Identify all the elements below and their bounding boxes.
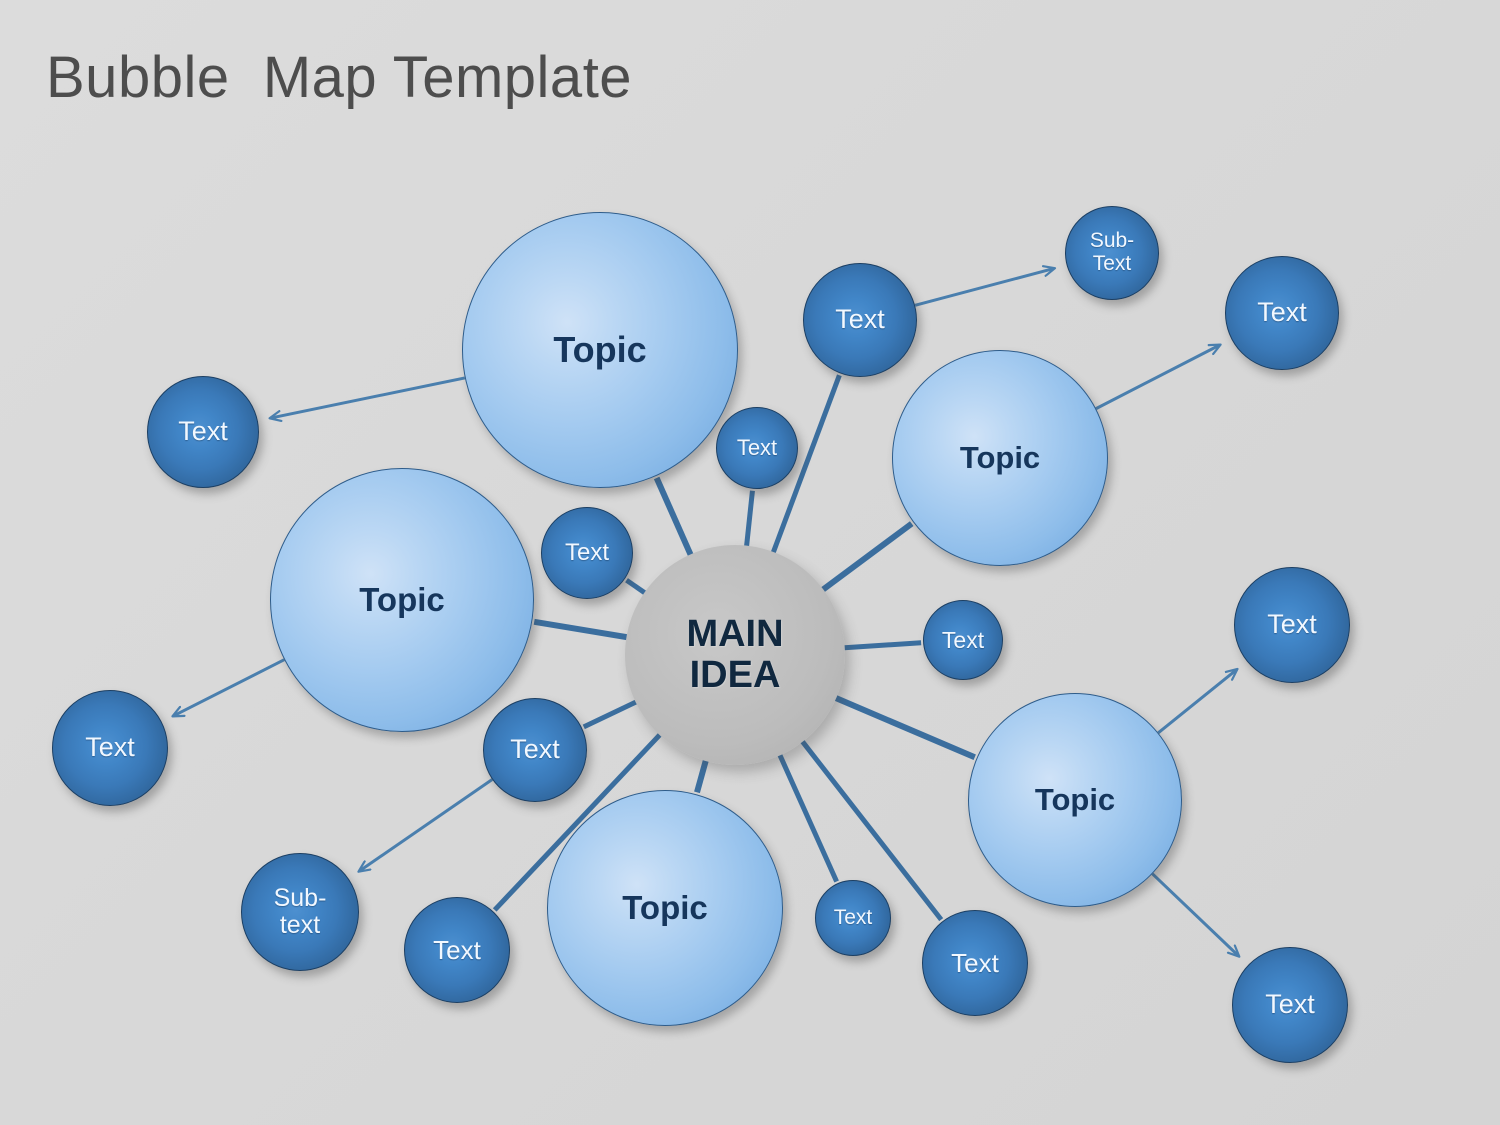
bubble-label-text-bottom-right: Text bbox=[1233, 990, 1347, 1019]
bubble-label-text-far-left-top: Text bbox=[148, 417, 258, 446]
bubble-label-text-mid-left: Text bbox=[484, 735, 586, 764]
bubble-label-topic-left: Topic bbox=[271, 582, 533, 618]
bubble-subtext-bottom-left[interactable]: Sub- text bbox=[241, 853, 359, 971]
bubble-topic-top-left[interactable]: Topic bbox=[462, 212, 738, 488]
bubble-label-text-top-right: Text bbox=[1226, 298, 1338, 327]
bubble-label-text-far-right: Text bbox=[1235, 610, 1349, 639]
connector-topic-bottom-right-to-text-far-right bbox=[1158, 670, 1236, 733]
bubble-main[interactable]: MAIN IDEA bbox=[625, 545, 845, 765]
bubble-label-text-bottom-small: Text bbox=[816, 907, 890, 930]
bubble-label-text-right-mid: Text bbox=[924, 628, 1002, 653]
connector-text-top-mid-to-subtext-top-right bbox=[915, 268, 1054, 305]
bubble-label-main: MAIN IDEA bbox=[625, 614, 845, 696]
bubble-label-topic-bottom-right: Topic bbox=[969, 783, 1181, 816]
connector-topic-left-to-text-far-left-mid bbox=[173, 660, 284, 716]
bubble-label-topic-bottom: Topic bbox=[548, 890, 782, 926]
bubble-text-mid-left[interactable]: Text bbox=[483, 698, 587, 802]
bubble-text-right-mid[interactable]: Text bbox=[923, 600, 1003, 680]
bubble-label-topic-right: Topic bbox=[893, 441, 1107, 474]
bubble-label-subtext-top-right: Sub- Text bbox=[1066, 230, 1158, 275]
bubble-topic-right[interactable]: Topic bbox=[892, 350, 1108, 566]
bubble-text-top-mid[interactable]: Text bbox=[803, 263, 917, 377]
bubble-text-near-top[interactable]: Text bbox=[716, 407, 798, 489]
bubble-subtext-top-right[interactable]: Sub- Text bbox=[1065, 206, 1159, 300]
connector-topic-top-left-to-text-far-left-top bbox=[271, 378, 465, 418]
bubble-text-bottom-left[interactable]: Text bbox=[404, 897, 510, 1003]
bubble-topic-bottom[interactable]: Topic bbox=[547, 790, 783, 1026]
bubble-topic-left[interactable]: Topic bbox=[270, 468, 534, 732]
bubble-label-subtext-bottom-left: Sub- text bbox=[242, 885, 358, 939]
bubble-text-top-right[interactable]: Text bbox=[1225, 256, 1339, 370]
bubble-label-text-bottom-mid: Text bbox=[923, 949, 1027, 977]
bubble-text-far-left-mid[interactable]: Text bbox=[52, 690, 168, 806]
connector-topic-right-to-text-top-right bbox=[1096, 345, 1220, 409]
bubble-label-text-near-left: Text bbox=[542, 540, 632, 566]
bubble-text-near-left[interactable]: Text bbox=[541, 507, 633, 599]
connector-topic-bottom-right-to-text-bottom-right bbox=[1152, 874, 1238, 956]
bubble-map-canvas: Bubble Map Template MAIN IDEATopicTopicT… bbox=[0, 0, 1500, 1125]
bubble-label-text-near-top: Text bbox=[717, 436, 797, 460]
bubble-label-text-bottom-left: Text bbox=[405, 936, 509, 964]
bubble-topic-bottom-right[interactable]: Topic bbox=[968, 693, 1182, 907]
bubble-label-text-top-mid: Text bbox=[804, 305, 916, 334]
bubble-text-bottom-small[interactable]: Text bbox=[815, 880, 891, 956]
bubble-label-topic-top-left: Topic bbox=[463, 331, 737, 370]
bubble-text-bottom-right[interactable]: Text bbox=[1232, 947, 1348, 1063]
bubble-text-far-left-top[interactable]: Text bbox=[147, 376, 259, 488]
bubble-text-bottom-mid[interactable]: Text bbox=[922, 910, 1028, 1016]
bubble-label-text-far-left-mid: Text bbox=[53, 733, 167, 762]
bubble-text-far-right[interactable]: Text bbox=[1234, 567, 1350, 683]
connector-text-mid-left-to-subtext-bottom-left bbox=[359, 780, 492, 872]
